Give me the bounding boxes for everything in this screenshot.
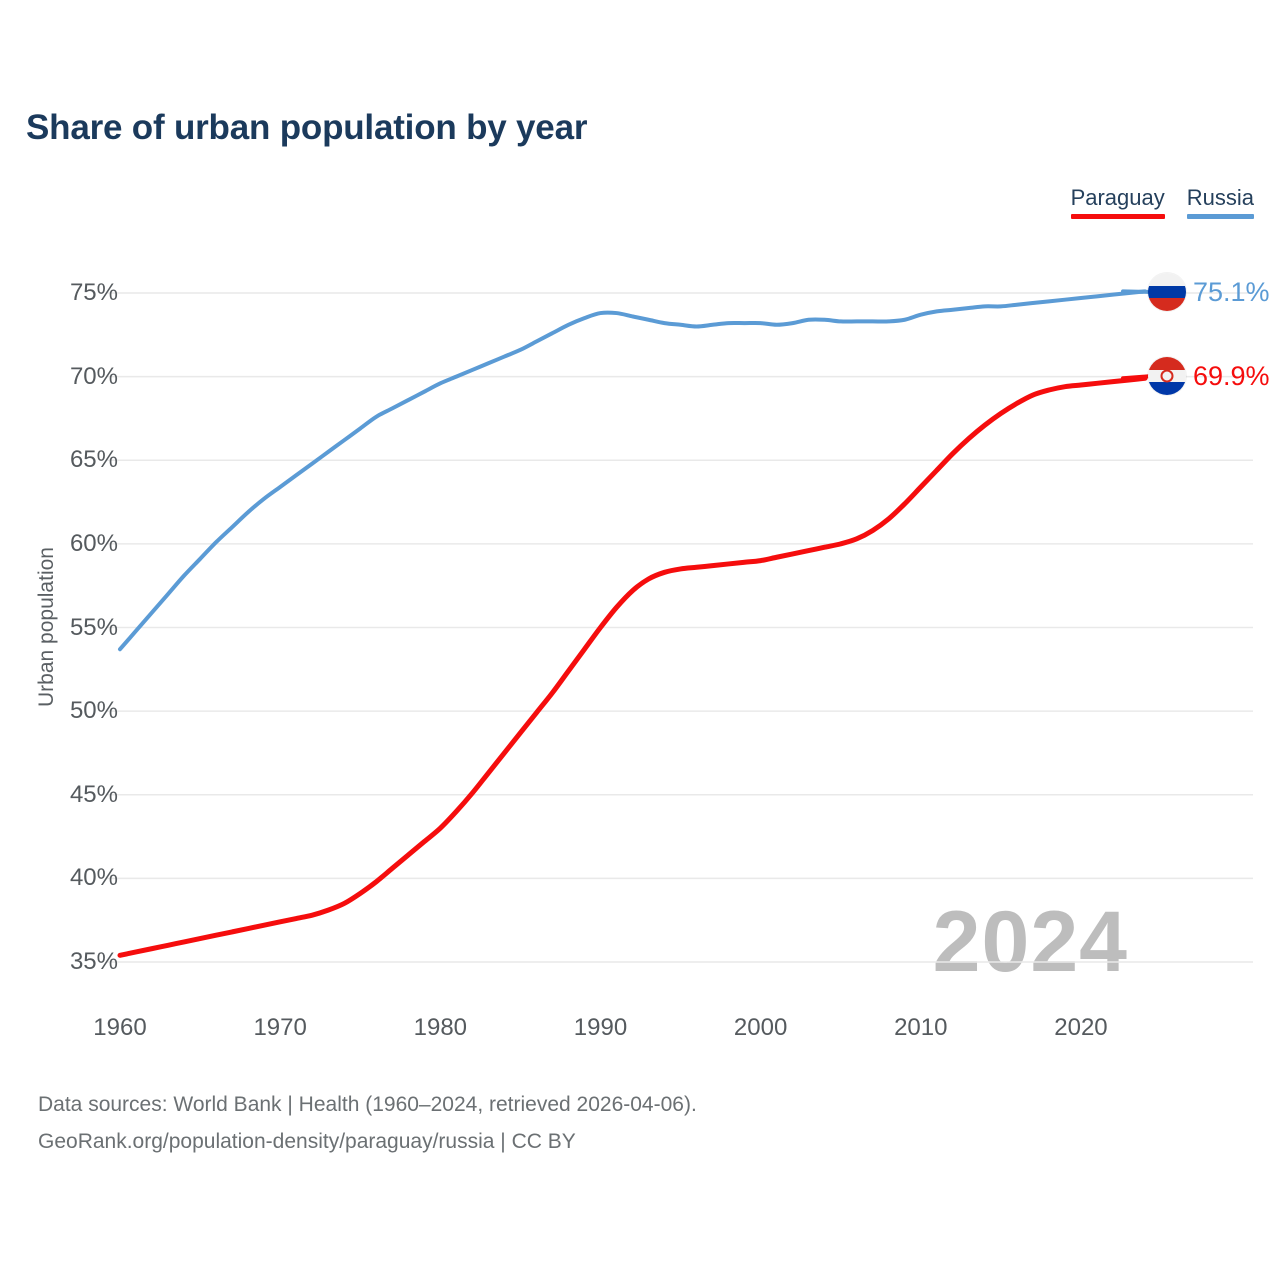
- y-tick-35: 35%: [70, 948, 118, 976]
- footer: Data sources: World Bank | Health (1960–…: [38, 1086, 697, 1160]
- legend-item-paraguay[interactable]: Paraguay: [1071, 185, 1165, 219]
- legend-rule-russia: [1187, 214, 1254, 219]
- x-tick-1970: 1970: [253, 1014, 306, 1042]
- legend-label-russia: Russia: [1187, 185, 1254, 211]
- y-tick-50: 50%: [70, 697, 118, 725]
- end-value-paraguay: 69.9%: [1193, 361, 1270, 392]
- paraguay-flag-icon: [1148, 357, 1186, 395]
- chart-legend: Paraguay Russia: [1071, 185, 1254, 219]
- footer-line-attribution: GeoRank.org/population-density/paraguay/…: [38, 1123, 697, 1160]
- x-tick-1980: 1980: [414, 1014, 467, 1042]
- gridlines: [106, 293, 1253, 962]
- year-watermark: 2024: [933, 893, 1128, 992]
- y-tick-70: 70%: [70, 363, 118, 391]
- x-tick-1960: 1960: [93, 1014, 146, 1042]
- chart-page: Share of urban population by year Paragu…: [0, 0, 1280, 1280]
- paraguay-emblem-icon: [1161, 370, 1174, 383]
- y-axis-title: Urban population: [35, 517, 59, 737]
- y-tick-40: 40%: [70, 864, 118, 892]
- series-line-paraguay: [120, 378, 1145, 955]
- legend-item-russia[interactable]: Russia: [1187, 185, 1254, 219]
- y-tick-60: 60%: [70, 530, 118, 558]
- y-tick-75: 75%: [70, 279, 118, 307]
- y-tick-55: 55%: [70, 614, 118, 642]
- legend-rule-paraguay: [1071, 214, 1165, 219]
- x-tick-2000: 2000: [734, 1014, 787, 1042]
- y-tick-65: 65%: [70, 446, 118, 474]
- x-tick-2010: 2010: [894, 1014, 947, 1042]
- page-title: Share of urban population by year: [26, 108, 587, 148]
- legend-label-paraguay: Paraguay: [1071, 185, 1165, 211]
- end-value-russia: 75.1%: [1193, 277, 1270, 308]
- x-tick-1990: 1990: [574, 1014, 627, 1042]
- end-label-paraguay: 69.9%: [1148, 357, 1270, 395]
- series-lines: [120, 291, 1145, 955]
- russia-flag-icon: [1148, 273, 1186, 311]
- end-label-russia: 75.1%: [1148, 273, 1270, 311]
- x-tick-2020: 2020: [1054, 1014, 1107, 1042]
- series-line-russia: [120, 291, 1145, 649]
- footer-line-sources: Data sources: World Bank | Health (1960–…: [38, 1086, 697, 1123]
- y-tick-45: 45%: [70, 781, 118, 809]
